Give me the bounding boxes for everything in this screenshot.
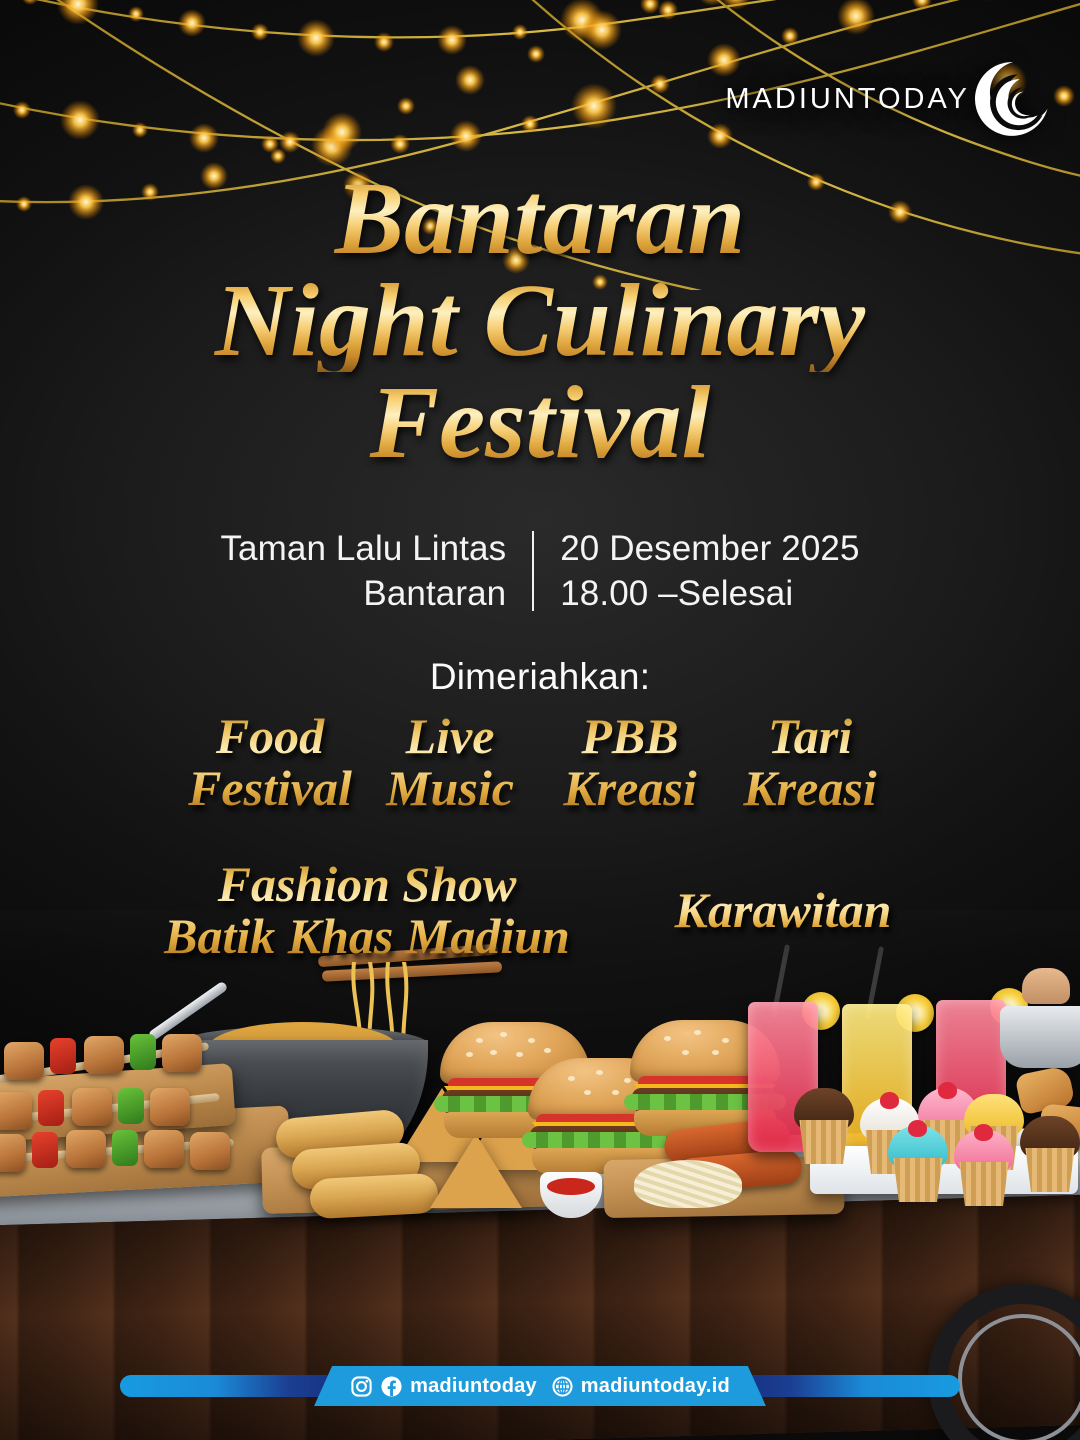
social-handle-group[interactable]: madiuntoday <box>350 1375 537 1398</box>
title-line-1: Bantaran <box>0 168 1080 270</box>
raspberry <box>880 1092 899 1109</box>
bell-pepper-green <box>118 1088 144 1124</box>
metal-pot <box>1000 1006 1080 1068</box>
lineup-item: Tari Kreasi <box>726 710 894 814</box>
chili-sauce <box>547 1178 595 1195</box>
logo-text: MADIUNTODAY <box>725 83 970 116</box>
cupcake-liner <box>1022 1148 1078 1192</box>
satay-meat <box>72 1088 112 1126</box>
venue-line-2: Bantaran <box>220 572 506 617</box>
satay-meat <box>150 1088 190 1126</box>
satay-meat <box>162 1034 202 1072</box>
title-line-3: Festival <box>0 372 1080 474</box>
bell-pepper-red <box>38 1090 64 1126</box>
lineup-item-line1: Tari <box>726 710 894 762</box>
poster: MADIUNTODAY Bantaran Night Culinary Fest… <box>0 0 1080 1440</box>
bell-pepper-green <box>112 1130 138 1166</box>
social-handle-text: madiuntoday <box>410 1375 537 1398</box>
lineup-item-line2: Music <box>366 762 534 814</box>
lineup-item-line1: Live <box>366 710 534 762</box>
lineup-item: Food Festival <box>186 710 354 814</box>
swirl-crescent-icon <box>972 58 1054 140</box>
raspberry <box>908 1120 927 1137</box>
cupcake <box>886 1124 950 1202</box>
lineup-item: PBB Kreasi <box>546 710 714 814</box>
website-group[interactable]: madiuntoday.id <box>551 1375 730 1398</box>
lineup-item-line2: Kreasi <box>546 762 714 814</box>
website-text: madiuntoday.id <box>581 1375 730 1398</box>
satay-meat <box>4 1042 44 1080</box>
lineup-label: Dimeriahkan: <box>0 656 1080 698</box>
lineup-item-line2: Batik Khas Madiun <box>132 910 602 962</box>
lineup-item-line1: Karawitan <box>618 884 948 936</box>
social-tag-bar: madiuntoday madiuntoday.id <box>314 1366 766 1406</box>
cupcake <box>1018 1114 1080 1192</box>
footer-bar: madiuntoday madiuntoday.id <box>0 1366 1080 1406</box>
cupcake <box>952 1128 1016 1206</box>
event-time: 18.00 –Selesai <box>560 572 859 617</box>
satay-meat <box>66 1130 106 1168</box>
lineup-item-line1: Food <box>186 710 354 762</box>
lineup-list: Food Festival Live Music PBB Kreasi Tari… <box>0 710 1080 962</box>
raspberry <box>974 1124 993 1141</box>
lineup-item-line2: Kreasi <box>726 762 894 814</box>
event-info: Taman Lalu Lintas Bantaran 20 Desember 2… <box>0 527 1080 617</box>
lineup-item-line2: Festival <box>186 762 354 814</box>
cupcake <box>792 1086 856 1164</box>
lineup-row-1: Food Festival Live Music PBB Kreasi Tari… <box>0 710 1080 814</box>
event-date: 20 Desember 2025 <box>560 527 859 572</box>
venue-block: Taman Lalu Lintas Bantaran <box>220 527 532 617</box>
satay-meat <box>0 1134 26 1172</box>
cupcake-liner <box>890 1158 946 1202</box>
instagram-icon[interactable] <box>350 1375 373 1398</box>
lineup-item-line1: Fashion Show <box>132 858 602 910</box>
lineup-row-2: Fashion Show Batik Khas Madiun Karawitan <box>0 858 1080 962</box>
datetime-block: 20 Desember 2025 18.00 –Selesai <box>534 527 859 617</box>
globe-icon[interactable] <box>551 1375 574 1398</box>
venue-line-1: Taman Lalu Lintas <box>220 527 506 572</box>
poster-title: Bantaran Night Culinary Festival <box>0 168 1080 474</box>
satay-meat <box>190 1132 230 1170</box>
food-spread-photo <box>0 910 1080 1440</box>
brand-logo: MADIUNTODAY <box>725 58 1054 140</box>
samosa <box>430 1134 522 1208</box>
title-line-2: Night Culinary <box>0 270 1080 372</box>
coleslaw <box>634 1160 742 1208</box>
facebook-icon[interactable] <box>380 1375 403 1398</box>
satay-meat <box>84 1036 124 1074</box>
satay-meat <box>144 1130 184 1168</box>
lineup-item: Fashion Show Batik Khas Madiun <box>132 858 602 962</box>
spring-roll <box>309 1173 439 1220</box>
raspberry <box>938 1082 957 1099</box>
cupcake-liner <box>796 1120 852 1164</box>
lineup-item-line1: PBB <box>546 710 714 762</box>
bell-pepper-red <box>50 1038 76 1074</box>
lineup-item: Karawitan <box>618 884 948 936</box>
satay-meat <box>0 1092 32 1130</box>
hand <box>1022 968 1070 1004</box>
bell-pepper-green <box>130 1034 156 1070</box>
cupcake-liner <box>956 1162 1012 1206</box>
bell-pepper-red <box>32 1132 58 1168</box>
lineup-item: Live Music <box>366 710 534 814</box>
